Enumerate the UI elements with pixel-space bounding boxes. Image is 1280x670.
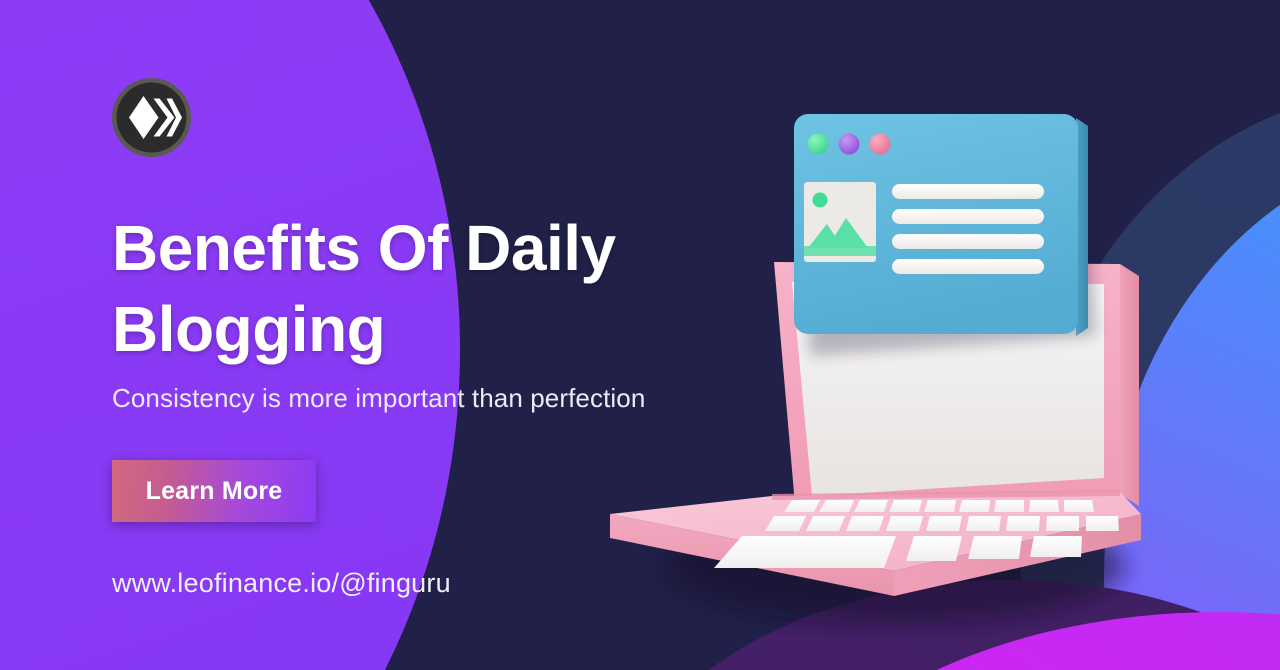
- spacebar-key: [714, 536, 896, 568]
- blog-window-card: [794, 114, 1096, 356]
- card-text-line: [892, 184, 1044, 199]
- learn-more-button[interactable]: Learn More: [112, 460, 316, 522]
- window-dot-pink-icon: [870, 134, 891, 155]
- hive-chevrons-logo-icon: [112, 78, 191, 157]
- window-dot-purple-icon: [839, 134, 860, 155]
- card-text-line: [892, 209, 1044, 224]
- banner-content: Benefits Of Daily Blogging Consistency i…: [112, 0, 732, 670]
- window-dot-green-icon: [808, 134, 829, 155]
- promo-banner: Benefits Of Daily Blogging Consistency i…: [0, 0, 1280, 670]
- image-placeholder-icon: [804, 182, 876, 262]
- card-text-line: [892, 259, 1044, 274]
- page-subtitle: Consistency is more important than perfe…: [112, 383, 645, 414]
- card-text-line: [892, 234, 1044, 249]
- page-title: Benefits Of Daily Blogging: [112, 208, 712, 369]
- learn-more-button-label: Learn More: [146, 477, 283, 506]
- site-url: www.leofinance.io/@finguru: [112, 568, 451, 599]
- hive-logo[interactable]: [112, 78, 191, 157]
